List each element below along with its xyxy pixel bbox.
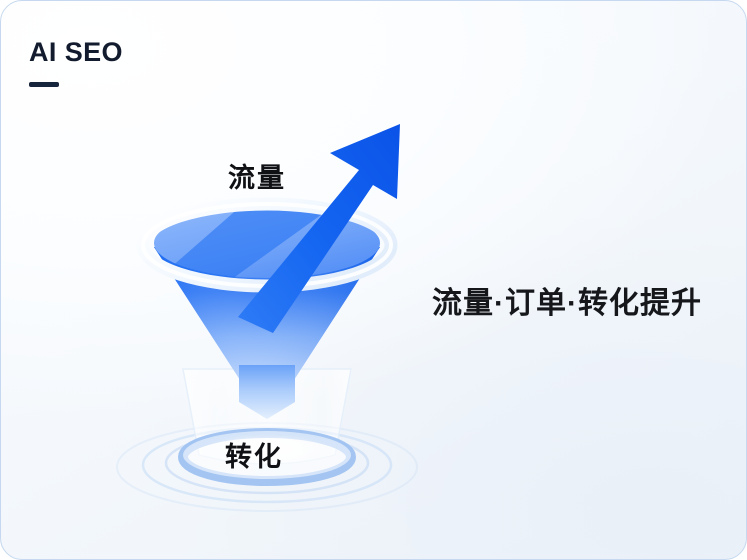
tagline-text: 流量·订单·转化提升 bbox=[432, 278, 702, 322]
page-title: AI SEO bbox=[29, 39, 123, 66]
funnel-label-conversion: 转化 bbox=[225, 435, 283, 474]
funnel-label-traffic: 流量 bbox=[228, 156, 286, 195]
brand-block: AI SEO bbox=[29, 39, 123, 87]
ai-seo-promo-card: AI SEO bbox=[0, 0, 747, 560]
title-underline-accent bbox=[29, 82, 59, 87]
